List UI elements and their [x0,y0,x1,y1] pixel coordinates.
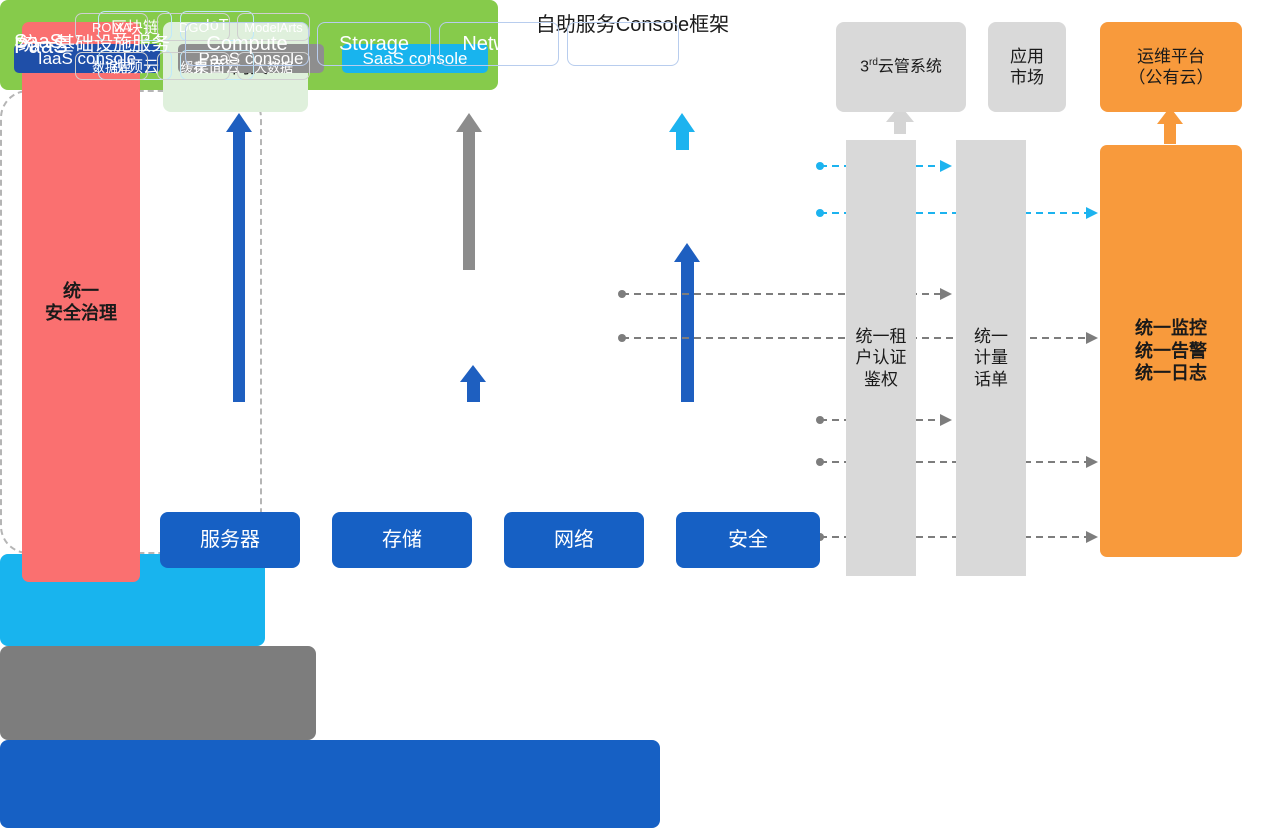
paas-layer-card[interactable]: PaaS ROMA DGC ModelArts 数据库 缓存 大数据 [0,646,316,740]
hardware-security-card[interactable]: 安全 [676,512,820,568]
architecture-diagram: 统一 安全治理 API网关 自助服务Console框架 IaaS console… [0,0,1265,605]
third-cloud-prefix: 3 [860,58,869,75]
ops-body-line1: 统一监控 [1135,317,1207,340]
hardware-network-card[interactable]: 网络 [504,512,644,568]
app-market-line1: 应用 [1010,46,1044,67]
security-governance-panel[interactable]: 统一 安全治理 [22,22,140,582]
arrow-infra-to-saas [674,243,700,402]
infra-chip-storage[interactable]: Storage [317,22,431,66]
arrow-paas-to-console [456,113,482,270]
ops-monitoring-panel[interactable]: 统一监控 统一告警 统一日志 [1100,145,1242,557]
arrow-saas-to-console [669,113,695,150]
auth-line1: 统一租 [856,326,907,347]
ops-body-line3: 统一日志 [1135,362,1207,385]
third-cloud-sup: rd [869,57,878,68]
third-party-cloud-management-card[interactable]: 3rd云管系统 [836,22,966,112]
infrastructure-services-label: 统一基础设施服务 [18,29,170,56]
infra-chip-compute[interactable]: Compute [185,22,309,66]
ops-body-line2: 统一告警 [1135,340,1207,363]
security-governance-line2: 安全治理 [45,302,117,325]
unified-metering-billing-column[interactable]: 统一 计量 话单 [956,140,1026,576]
app-market-line2: 市场 [1010,67,1044,88]
ops-platform-line1: 运维平台 [1129,46,1214,67]
infra-chip-cce[interactable]: CCE [567,22,679,66]
third-cloud-label: 3rd云管系统 [860,57,942,77]
auth-line3: 鉴权 [856,369,907,390]
hardware-storage-card[interactable]: 存储 [332,512,472,568]
infra-chip-network[interactable]: Network [439,22,559,66]
app-market-card[interactable]: 应用 市场 [988,22,1066,112]
meter-line1: 统一 [974,326,1008,347]
infrastructure-services-bar[interactable]: 统一基础设施服务 Compute Storage Network CCE [0,740,660,828]
third-cloud-suffix: 云管系统 [878,58,942,75]
unified-tenant-auth-column[interactable]: 统一租 户认证 鉴权 [846,140,916,576]
auth-line2: 户认证 [856,347,907,368]
arrow-to-ops-platform [1157,107,1183,144]
meter-line3: 话单 [974,369,1008,390]
meter-line2: 计量 [974,347,1008,368]
ops-platform-card[interactable]: 运维平台 （公有云） [1100,22,1242,112]
paas-chip-database[interactable]: 数据库 [75,52,148,80]
ops-platform-line2: （公有云） [1129,67,1214,88]
hardware-server-card[interactable]: 服务器 [160,512,300,568]
arrow-infra-to-paas [460,365,486,402]
security-governance-line1: 统一 [45,280,117,303]
